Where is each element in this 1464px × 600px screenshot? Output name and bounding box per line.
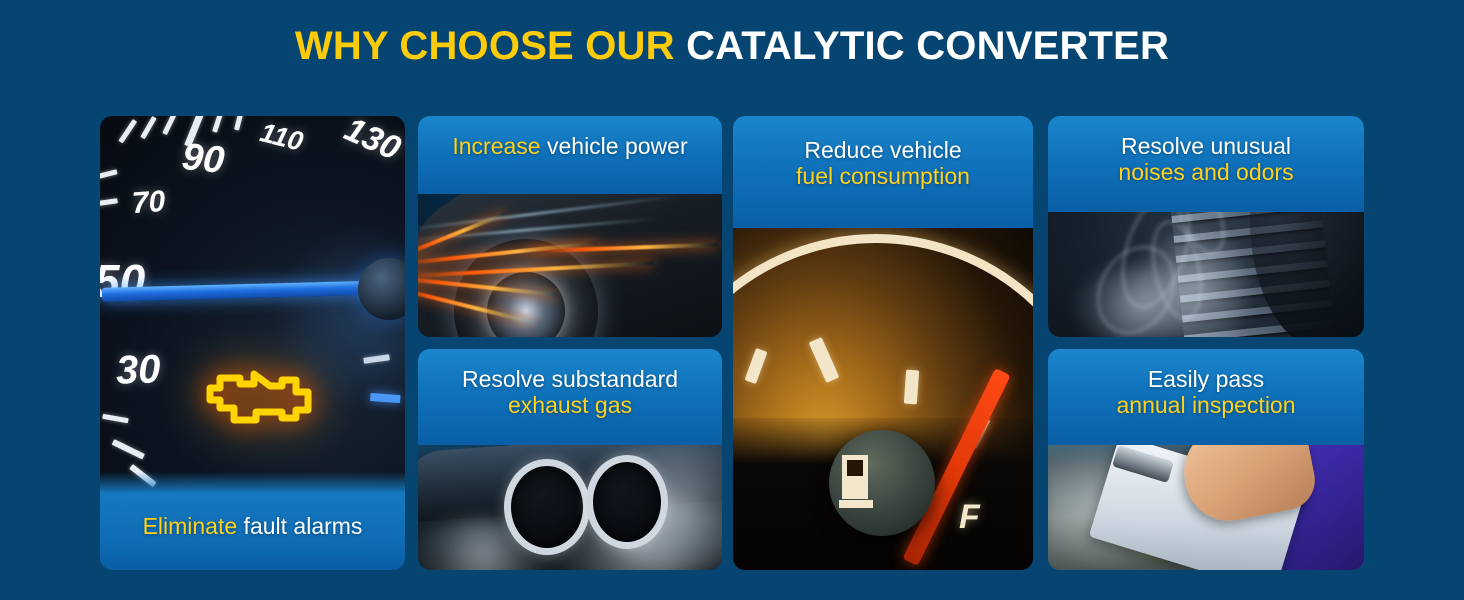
caption-line-1: Easily pass — [1048, 367, 1364, 393]
caption-line-2: fuel consumption — [733, 164, 1033, 190]
gauge-number-70: 70 — [131, 185, 167, 221]
caption-line-1: Reduce vehicle — [733, 138, 1033, 164]
page-title-highlight: WHY CHOOSE OUR — [295, 24, 675, 68]
feature-card-eliminate-fault-alarms[interactable]: 130 110 90 70 50 30 Eliminate fault alar… — [100, 116, 405, 570]
caption-line-1: Resolve substandard — [418, 367, 722, 393]
card-caption-resolve-substandard-exhaust-gas: Resolve substandard exhaust gas — [418, 367, 722, 419]
card-caption-reduce-fuel-consumption: Reduce vehicle fuel consumption — [733, 138, 1033, 190]
card-caption-easily-pass-inspection: Easily pass annual inspection — [1048, 367, 1364, 419]
feature-card-resolve-noises-odors[interactable]: Resolve unusual noises and odors — [1048, 116, 1364, 337]
card-caption-eliminate-fault-alarms: Eliminate fault alarms — [100, 514, 405, 540]
caption-line-2: annual inspection — [1048, 393, 1364, 419]
check-engine-icon — [196, 358, 322, 436]
caption-line-2: exhaust gas — [418, 393, 722, 419]
fuel-gauge-full-label: F — [959, 498, 980, 537]
card-caption-increase-vehicle-power: Increase vehicle power — [418, 134, 722, 160]
feature-card-increase-vehicle-power[interactable]: Increase vehicle power — [418, 116, 722, 337]
caption-highlight: Increase — [452, 133, 540, 159]
card-caption-resolve-noises-odors: Resolve unusual noises and odors — [1048, 134, 1364, 186]
caption-line-1: Resolve unusual — [1048, 134, 1364, 160]
caption-rest: fault alarms — [237, 513, 362, 539]
caption-rest: vehicle power — [541, 133, 688, 159]
gauge-number-90: 90 — [180, 136, 227, 183]
feature-card-easily-pass-inspection[interactable]: Easily pass annual inspection — [1048, 349, 1364, 570]
caption-line-2: noises and odors — [1048, 160, 1364, 186]
gauge-number-30: 30 — [115, 347, 161, 394]
feature-card-reduce-fuel-consumption[interactable]: F Reduce vehicle fuel consumption — [733, 116, 1033, 570]
fuel-pump-icon — [839, 454, 875, 514]
page-title-rest: CATALYTIC CONVERTER — [686, 24, 1169, 68]
page-title: WHY CHOOSE OUR CATALYTIC CONVERTER — [0, 22, 1464, 70]
feature-card-resolve-substandard-exhaust-gas[interactable]: Resolve substandard exhaust gas — [418, 349, 722, 570]
caption-highlight: Eliminate — [143, 513, 238, 539]
